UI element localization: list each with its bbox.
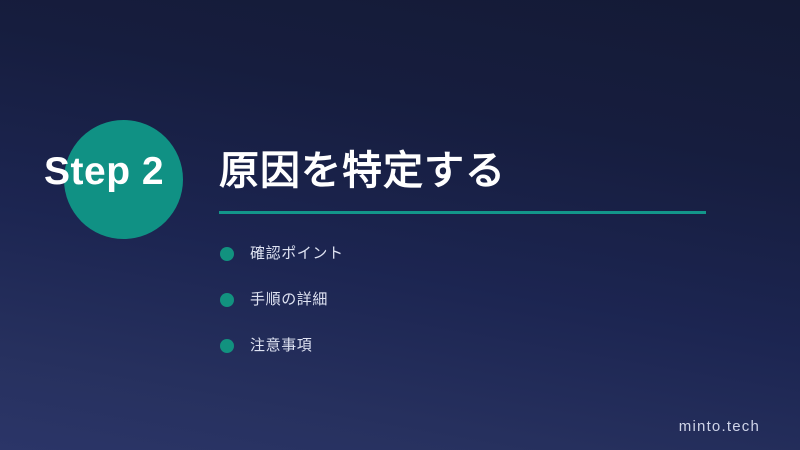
title-divider [219,211,706,214]
list-item-label: 確認ポイント [250,244,344,264]
list-item-label: 注意事項 [250,336,312,356]
list-item-label: 手順の詳細 [250,290,328,310]
list-item: 手順の詳細 [220,285,660,315]
bullet-dot-icon [220,293,234,307]
bullet-list: 確認ポイント 手順の詳細 注意事項 [220,239,660,377]
list-item: 確認ポイント [220,239,660,269]
footer-brand: minto.tech [679,418,760,435]
step-badge-label: Step 2 [44,150,204,194]
bullet-dot-icon [220,247,234,261]
page-title: 原因を特定する [219,147,506,195]
list-item: 注意事項 [220,331,660,361]
slide-canvas: Step 2 原因を特定する 確認ポイント 手順の詳細 注意事項 minto.t… [0,0,800,450]
bullet-dot-icon [220,339,234,353]
